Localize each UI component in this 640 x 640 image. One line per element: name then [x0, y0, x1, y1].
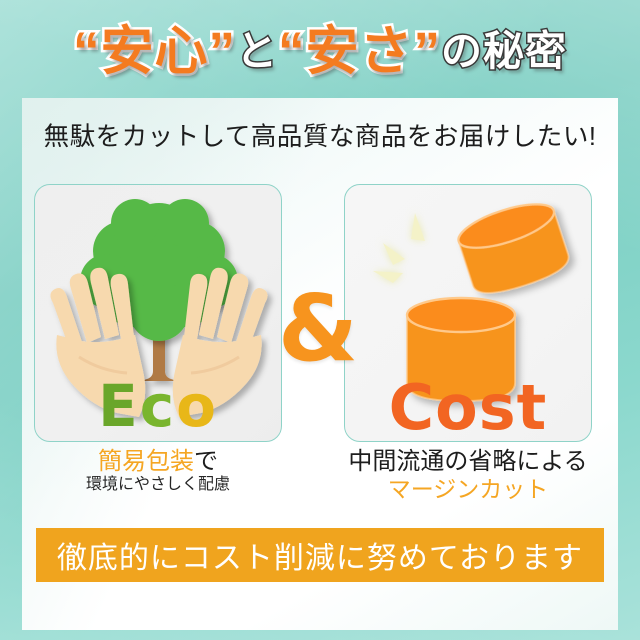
- feature-card-cost[interactable]: Cost: [344, 184, 592, 442]
- caption-eco-primary-orange: 簡易包装: [98, 448, 194, 475]
- content-panel: 無駄をカットして高品質な商品をお届けしたい!: [22, 98, 618, 630]
- caption-eco-primary: 簡易包装で: [34, 448, 282, 476]
- header-quote-close-1: ”: [209, 25, 237, 78]
- eco-letter-o: o: [176, 372, 218, 440]
- promo-banner-stage: “安心”と“安さ”の秘密 無駄をカットして高品質な商品をお届けしたい!: [0, 0, 640, 640]
- caption-cost-primary: 中間流通の省略による: [344, 448, 592, 476]
- cost-wordmark: Cost: [345, 377, 591, 439]
- caption-eco: 簡易包装で 環境にやさしく配慮: [34, 448, 282, 495]
- header-quote-close-2: ”: [414, 25, 442, 78]
- caption-eco-secondary: 環境にやさしく配慮: [34, 476, 282, 495]
- header-title: “安心”と“安さ”の秘密: [73, 25, 567, 78]
- ampersand-separator: &: [276, 283, 360, 375]
- header-suffix: の秘密: [441, 31, 567, 72]
- header: “安心”と“安さ”の秘密: [0, 8, 640, 94]
- header-word-yasusa: 安さ: [306, 25, 414, 78]
- eco-letter-c: c: [140, 372, 176, 440]
- subtitle: 無駄をカットして高品質な商品をお届けしたい!: [22, 116, 618, 153]
- caption-cost-secondary: マージンカット: [344, 476, 592, 503]
- eco-wordmark: Eco: [35, 377, 281, 435]
- caption-eco-primary-dark: で: [194, 448, 218, 475]
- bottom-banner-text: 徹底的にコスト削減に努めております: [57, 533, 583, 577]
- bottom-banner: 徹底的にコスト削減に努めております: [36, 528, 604, 582]
- header-word-anshin: 安心: [101, 25, 209, 78]
- header-quote-open-1: “: [73, 25, 101, 78]
- header-connector: と: [236, 31, 278, 72]
- feature-card-eco[interactable]: Eco: [34, 184, 282, 442]
- caption-cost: 中間流通の省略による マージンカット: [344, 448, 592, 503]
- header-quote-open-2: “: [278, 25, 306, 78]
- eco-letter-e: E: [98, 372, 140, 440]
